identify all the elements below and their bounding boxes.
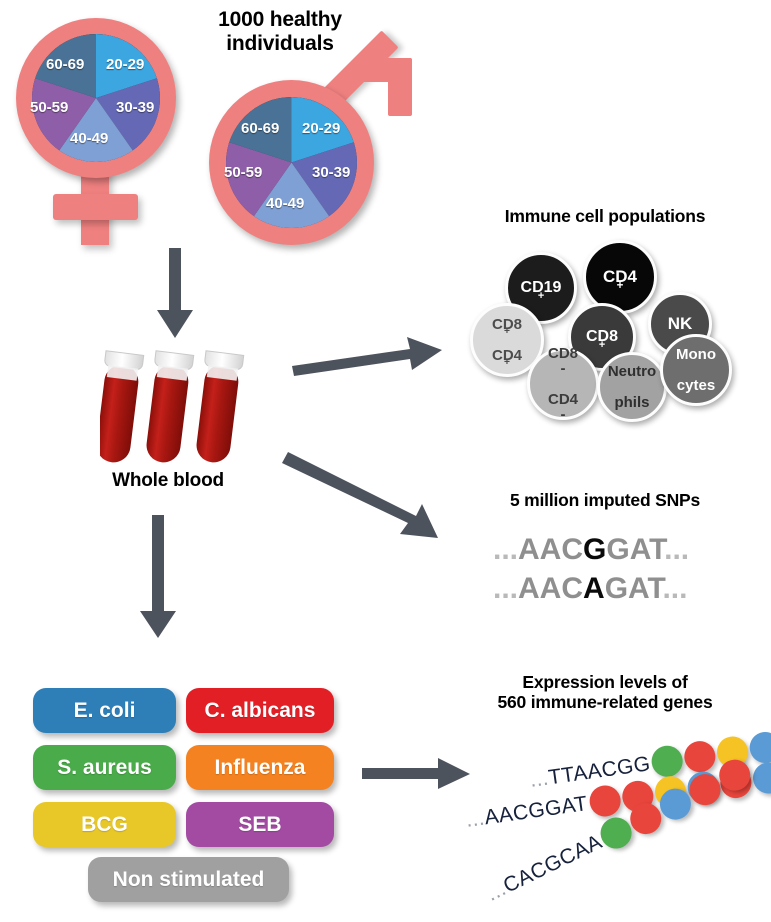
rna-bases: AACGGAT xyxy=(483,792,589,829)
rna-bead xyxy=(587,783,622,818)
rna-bead xyxy=(748,730,771,765)
rna-strands-group: ...TTAACGG ...AACGGAT ...CACGCAA xyxy=(0,0,771,922)
rna-bases: CACGCAA xyxy=(500,830,606,897)
rna-bead xyxy=(650,744,685,779)
rna-sequence: ...CACGCAA xyxy=(483,830,606,907)
rna-sequence: ...AACGGAT xyxy=(464,792,589,833)
figure-canvas: 20-29 30-39 40-49 50-59 60-69 1000 healt… xyxy=(0,0,771,922)
